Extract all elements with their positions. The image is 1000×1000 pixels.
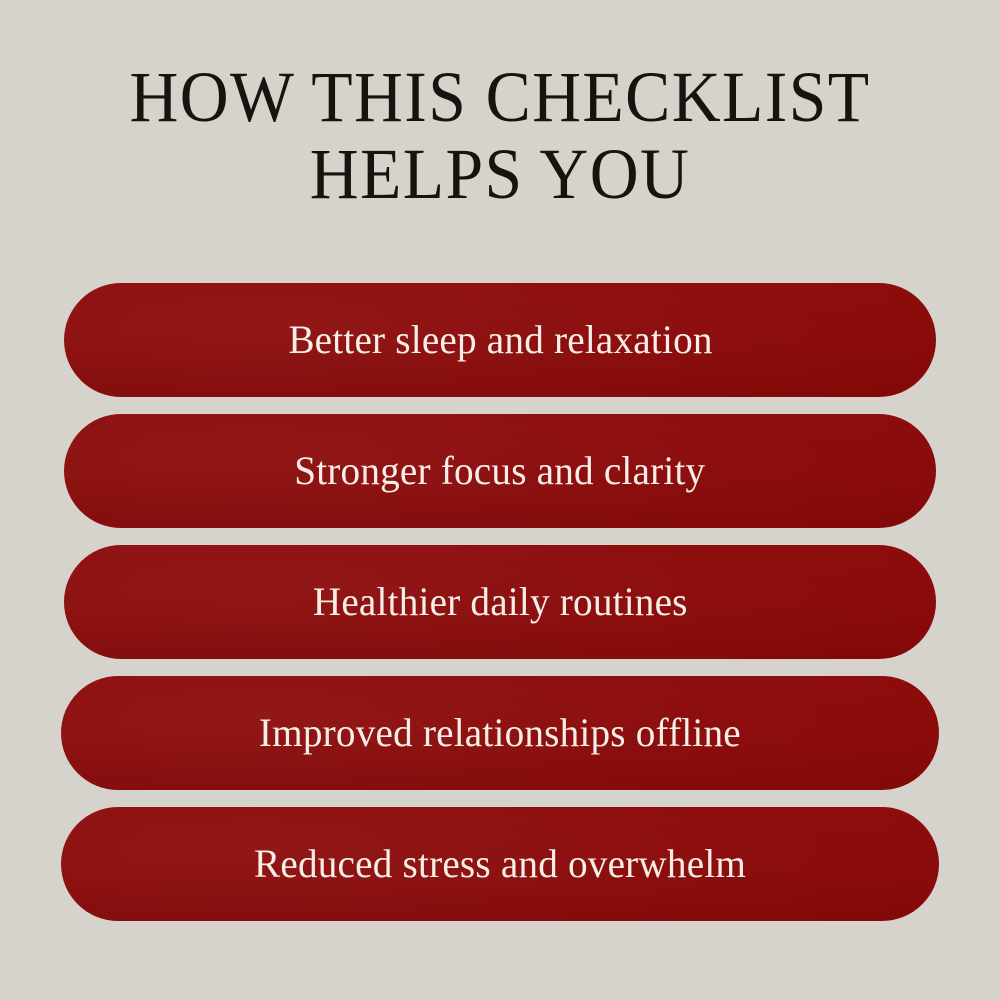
benefit-pill-label-4: Improved relationships offline — [259, 713, 741, 753]
benefit-pill-label-3: Healthier daily routines — [313, 582, 688, 622]
poster-canvas: HOW THIS CHECKLIST HELPS YOU Better slee… — [0, 0, 1000, 1000]
benefit-pill-label-2: Stronger focus and clarity — [294, 451, 705, 491]
benefit-pill-5[interactable]: Reduced stress and overwhelm — [61, 807, 939, 921]
benefit-pill-label-1: Better sleep and relaxation — [288, 320, 712, 360]
benefits-list: Better sleep and relaxation Stronger foc… — [0, 283, 1000, 921]
benefit-pill-4[interactable]: Improved relationships offline — [61, 676, 939, 790]
page-title-line-2: HELPS YOU — [77, 133, 923, 210]
page-title-line-1: HOW THIS CHECKLIST — [77, 0, 923, 133]
page-title: HOW THIS CHECKLIST HELPS YOU — [77, 0, 923, 209]
benefit-pill-label-5: Reduced stress and overwhelm — [254, 844, 746, 884]
benefit-pill-2[interactable]: Stronger focus and clarity — [64, 414, 936, 528]
benefit-pill-1[interactable]: Better sleep and relaxation — [64, 283, 936, 397]
benefit-pill-3[interactable]: Healthier daily routines — [64, 545, 936, 659]
